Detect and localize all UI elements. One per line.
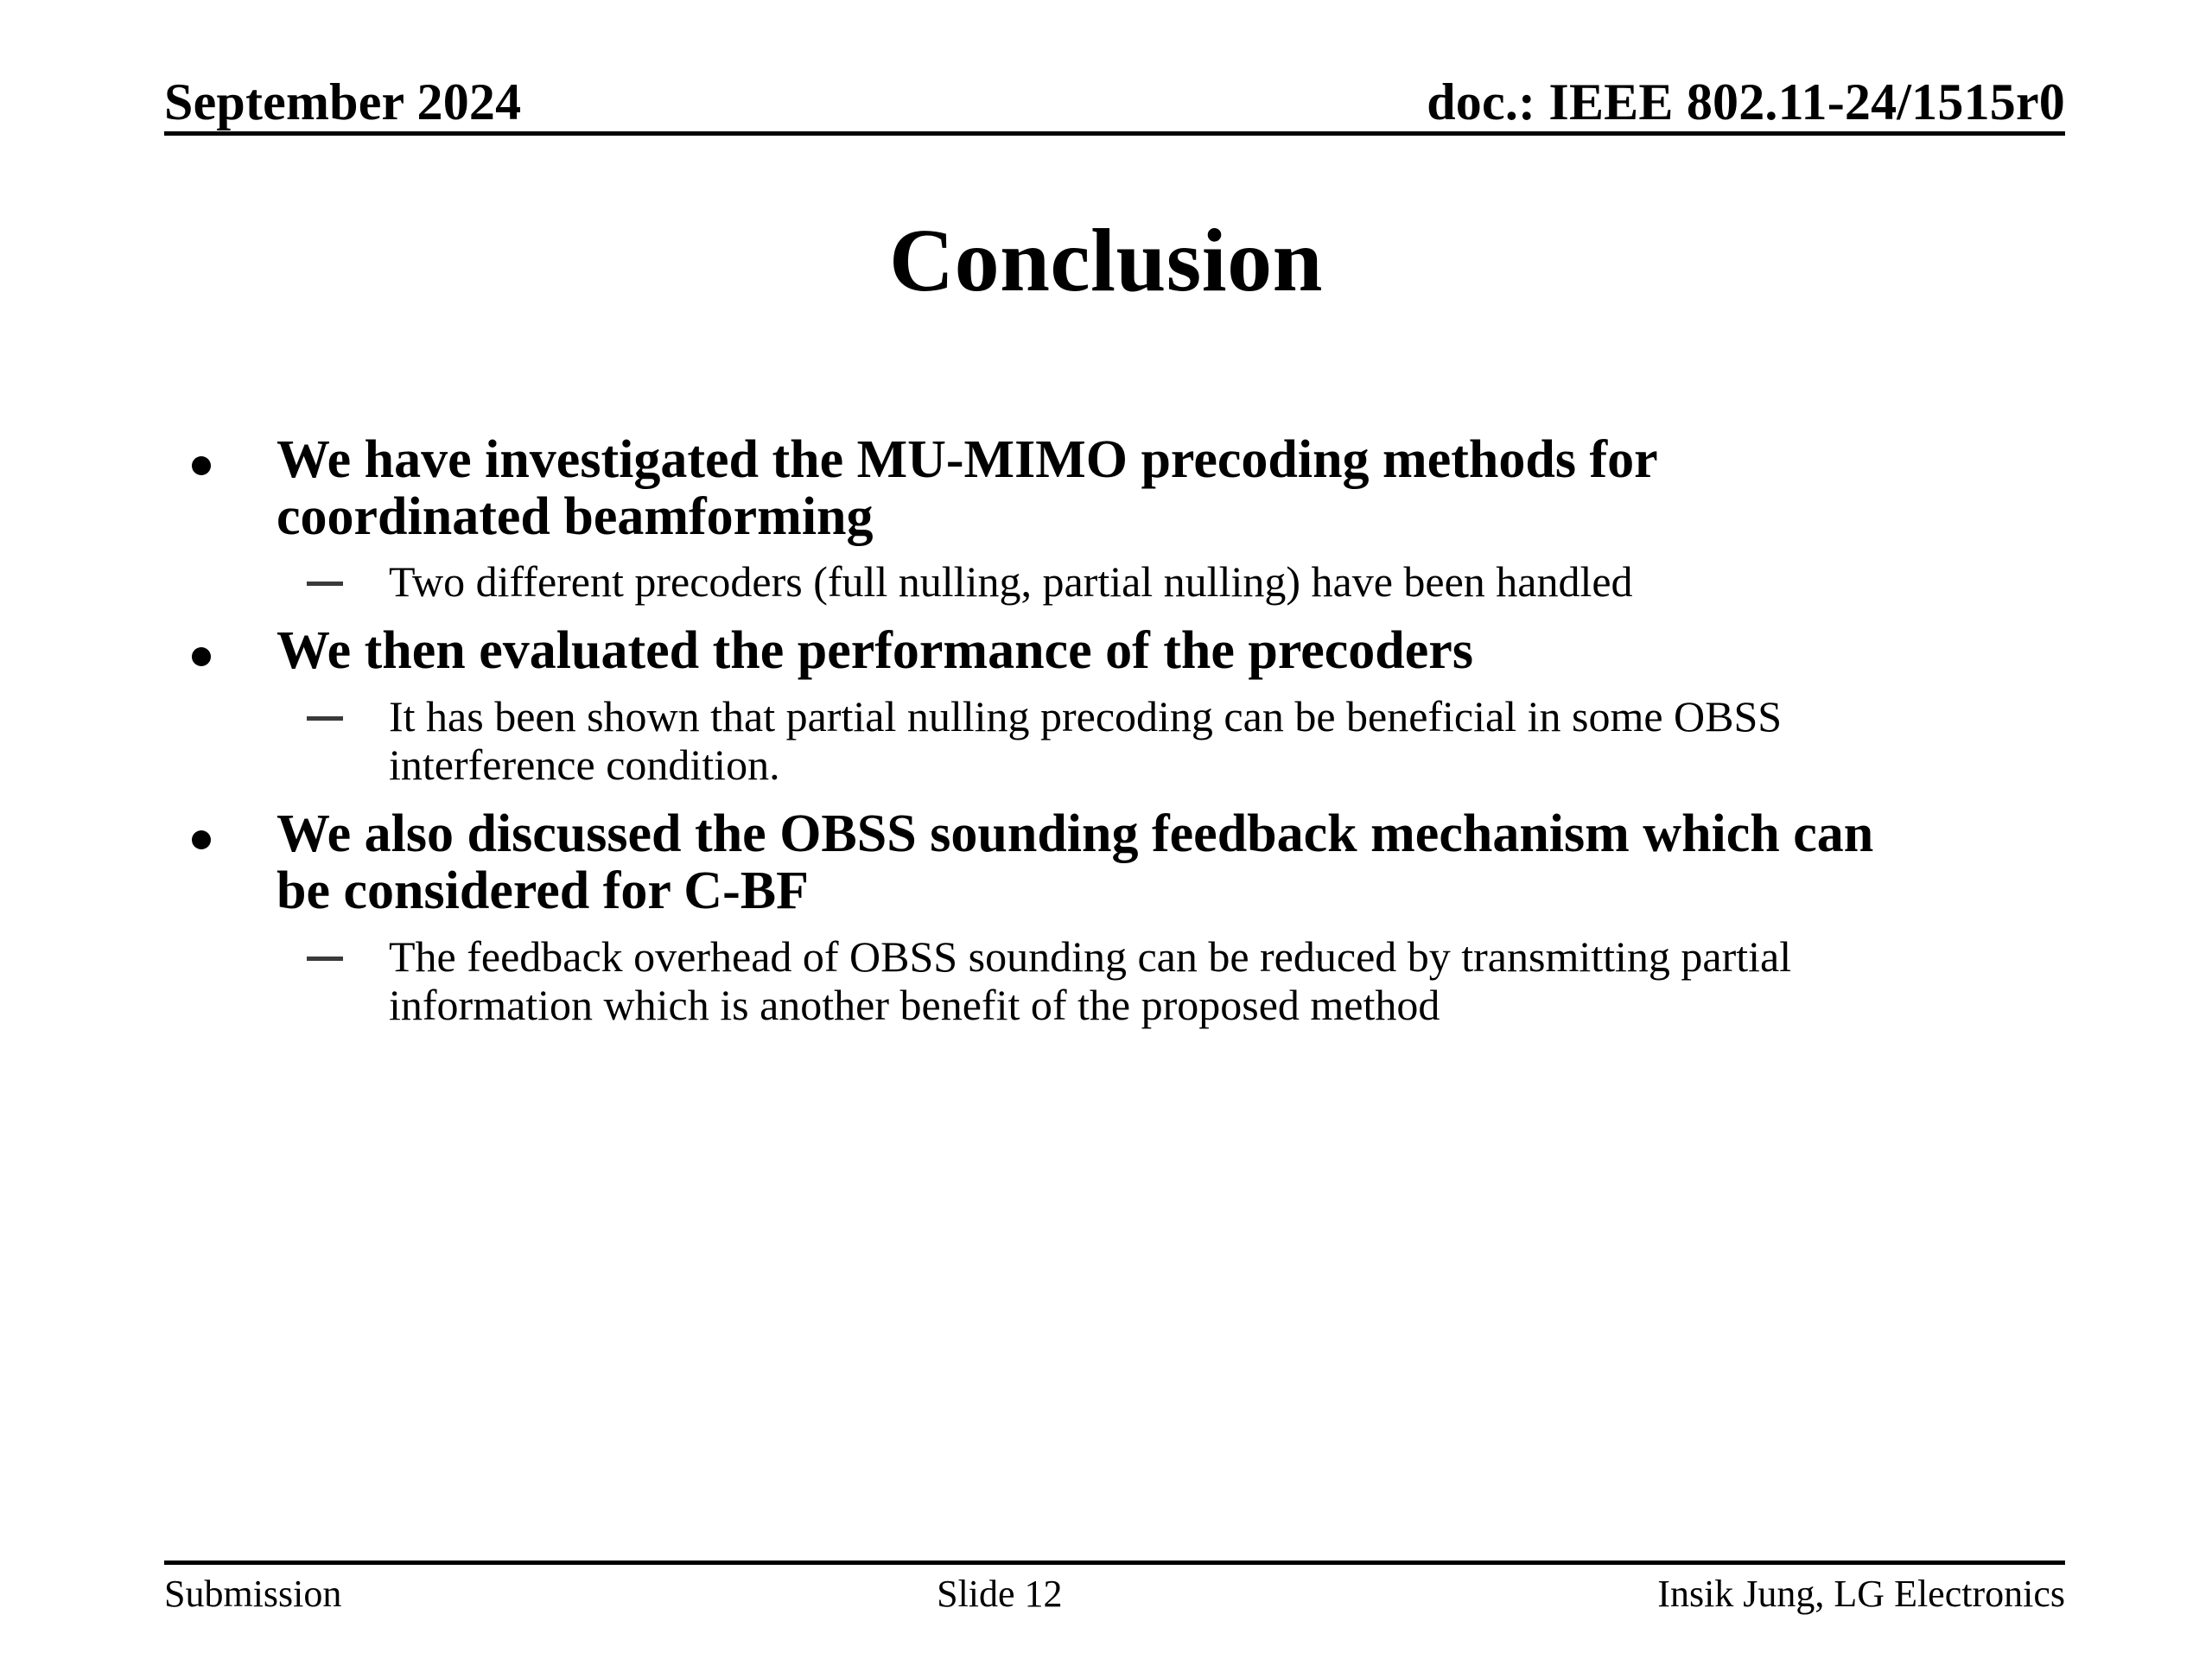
- header-doc-reference: doc.: IEEE 802.11-24/1515r0: [1427, 76, 2065, 128]
- bullet-text: The feedback overhead of OBSS sounding c…: [389, 932, 1996, 1029]
- bullet-dash-icon: [307, 582, 343, 586]
- footer-submission-label: Submission: [164, 1575, 341, 1613]
- slide-header: September 2024 doc.: IEEE 802.11-24/1515…: [164, 76, 2065, 136]
- page-title: Conclusion: [0, 216, 2212, 306]
- bullet-text: We also discussed the OBSS sounding feed…: [276, 806, 1918, 919]
- bullet-item-level2: It has been shown that partial nulling p…: [181, 692, 1996, 789]
- footer-author: Insik Jung, LG Electronics: [1657, 1575, 2065, 1613]
- bullet-item-level2: The feedback overhead of OBSS sounding c…: [181, 932, 1996, 1029]
- bullet-text: Two different precoders (full nulling, p…: [389, 557, 1996, 606]
- bullet-text: We have investigated the MU-MIMO precodi…: [276, 432, 1918, 545]
- bullet-dot-icon: [192, 647, 211, 666]
- bullet-group-3: We also discussed the OBSS sounding feed…: [181, 806, 1996, 1028]
- bullet-dot-icon: [192, 830, 211, 849]
- slide-page: September 2024 doc.: IEEE 802.11-24/1515…: [0, 0, 2212, 1659]
- bullet-dash-icon: [307, 957, 343, 961]
- bullet-item-level2: Two different precoders (full nulling, p…: [181, 557, 1996, 606]
- footer-slide-number: Slide 12: [341, 1575, 1657, 1613]
- bullet-dot-icon: [192, 456, 211, 475]
- bullet-dash-icon: [307, 716, 343, 721]
- slide-body: We have investigated the MU-MIMO precodi…: [181, 432, 1996, 1046]
- slide-footer: Submission Slide 12 Insik Jung, LG Elect…: [164, 1560, 2065, 1613]
- bullet-item-level1: We then evaluated the performance of the…: [181, 623, 1918, 680]
- bullet-group-2: We then evaluated the performance of the…: [181, 623, 1996, 789]
- bullet-text: It has been shown that partial nulling p…: [389, 692, 1996, 789]
- bullet-group-1: We have investigated the MU-MIMO precodi…: [181, 432, 1996, 606]
- bullet-item-level1: We have investigated the MU-MIMO precodi…: [181, 432, 1918, 545]
- bullet-text: We then evaluated the performance of the…: [276, 623, 1918, 680]
- header-date: September 2024: [164, 76, 521, 128]
- bullet-item-level1: We also discussed the OBSS sounding feed…: [181, 806, 1918, 919]
